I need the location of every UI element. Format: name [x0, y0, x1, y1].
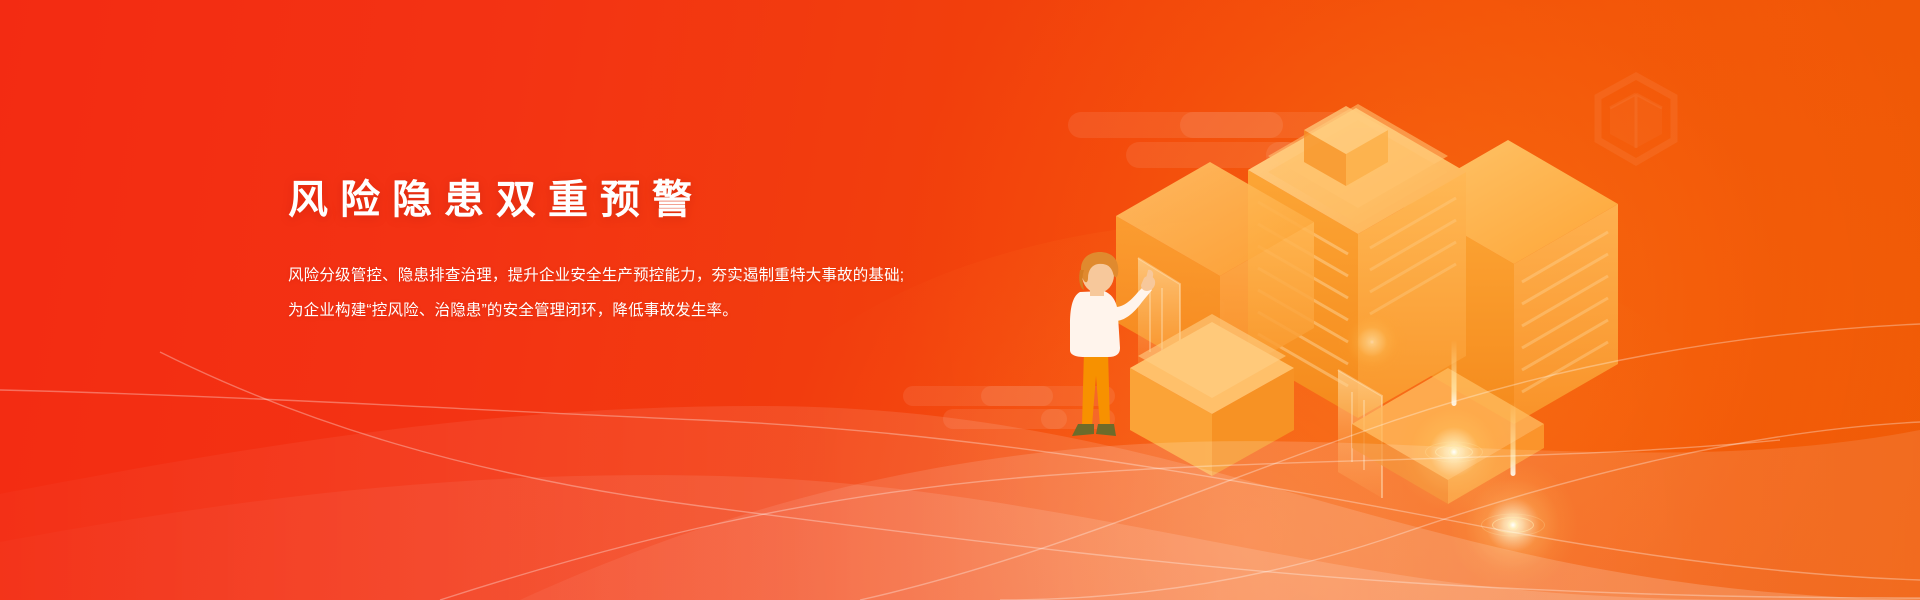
- glowing-light-orb-2: [1448, 460, 1578, 590]
- page-subtitle: 风险分级管控、隐患排查治理，提升企业安全生产预控能力，夯实遏制重特大事故的基础;…: [288, 259, 1048, 329]
- accent-cube-top: [1304, 106, 1388, 186]
- glowing-light-orb-3: [1336, 306, 1408, 378]
- front-box-pointed-at: [1130, 314, 1294, 476]
- hero-copy-block: 风险隐患双重预警 风险分级管控、隐患排查治理，提升企业安全生产预控能力，夯实遏制…: [288, 175, 1048, 329]
- isometric-cube-decoration-2: [1268, 164, 1328, 230]
- subtitle-line-1: 风险分级管控、隐患排查治理，提升企业安全生产预控能力，夯实遏制重特大事故的基础;: [288, 259, 1048, 294]
- isometric-cube-decoration-3: [1452, 206, 1500, 260]
- glass-panel-highlights: [1138, 258, 1382, 498]
- low-platform-slab: [1352, 368, 1544, 504]
- glowing-light-orb-1: [1394, 392, 1514, 512]
- isometric-cube-decoration-1: [1590, 70, 1682, 170]
- server-rack-center: [1248, 104, 1466, 418]
- isometric-cube-decoration-4: [1186, 290, 1228, 336]
- server-rack-back-right: [1404, 140, 1618, 424]
- hero-banner: 风险隐患双重预警 风险分级管控、隐患排查治理，提升企业安全生产预控能力，夯实遏制…: [0, 0, 1920, 600]
- subtitle-line-2: 为企业构建“控风险、治隐患”的安全管理闭环，降低事故发生率。: [288, 294, 1048, 329]
- server-rack-back-left: [1116, 162, 1314, 382]
- cloud-decoration-top: [1068, 112, 1368, 180]
- isometric-server-illustration: [1052, 52, 1672, 522]
- cloud-decoration-middle: [903, 386, 1115, 442]
- person-pointing-figure: [1070, 252, 1155, 436]
- page-title: 风险隐患双重预警: [288, 175, 1048, 225]
